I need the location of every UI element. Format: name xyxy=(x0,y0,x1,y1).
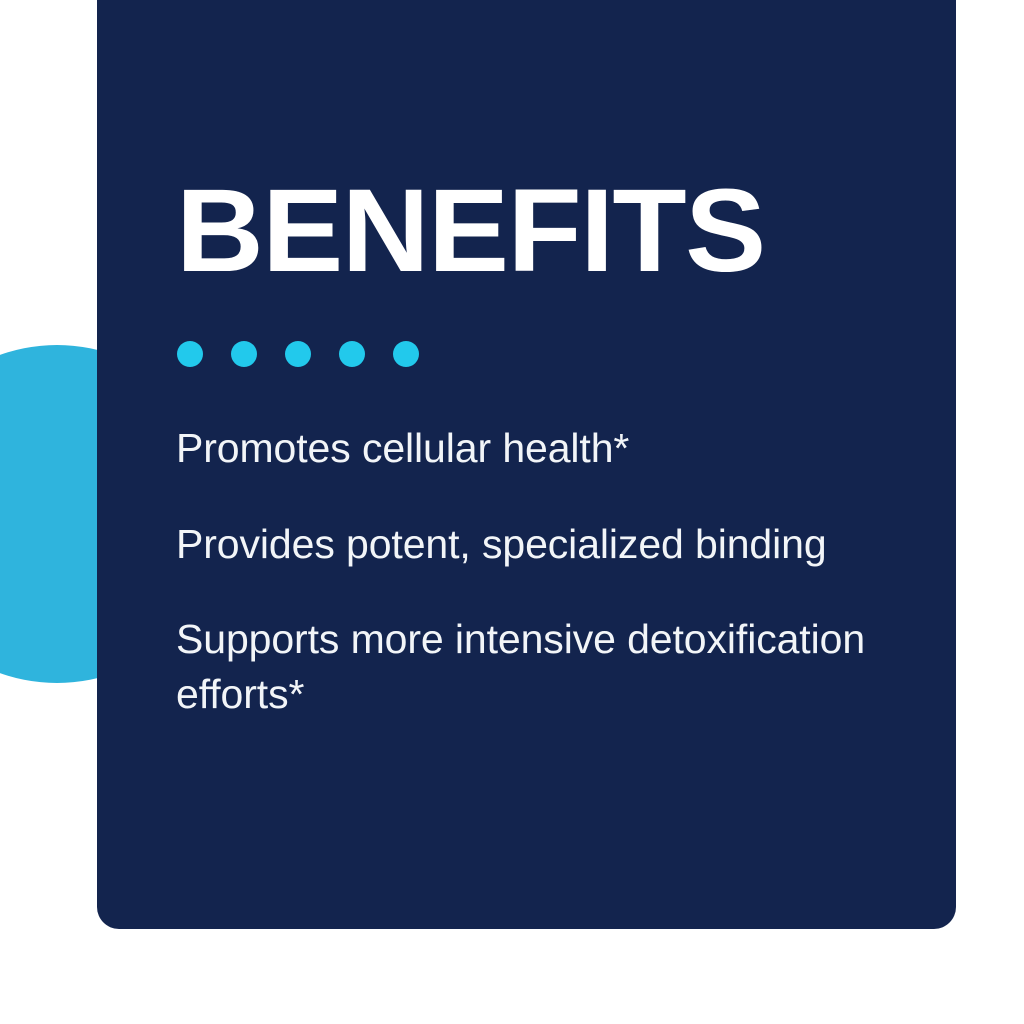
divider-dot-icon xyxy=(177,341,203,367)
dot-divider xyxy=(177,341,419,367)
benefits-card-graphic: BENEFITS Promotes cellular health* Provi… xyxy=(0,0,1024,1024)
benefits-list: Promotes cellular health* Provides poten… xyxy=(176,421,926,721)
benefits-card: BENEFITS Promotes cellular health* Provi… xyxy=(97,0,956,929)
divider-dot-icon xyxy=(231,341,257,367)
list-item: Promotes cellular health* xyxy=(176,421,876,476)
divider-dot-icon xyxy=(339,341,365,367)
page-title: BENEFITS xyxy=(176,172,765,290)
divider-dot-icon xyxy=(393,341,419,367)
benefits-card-content: BENEFITS Promotes cellular health* Provi… xyxy=(176,0,926,929)
list-item: Supports more intensive detoxification e… xyxy=(176,612,876,721)
list-item: Provides potent, specialized binding xyxy=(176,517,876,572)
divider-dot-icon xyxy=(285,341,311,367)
